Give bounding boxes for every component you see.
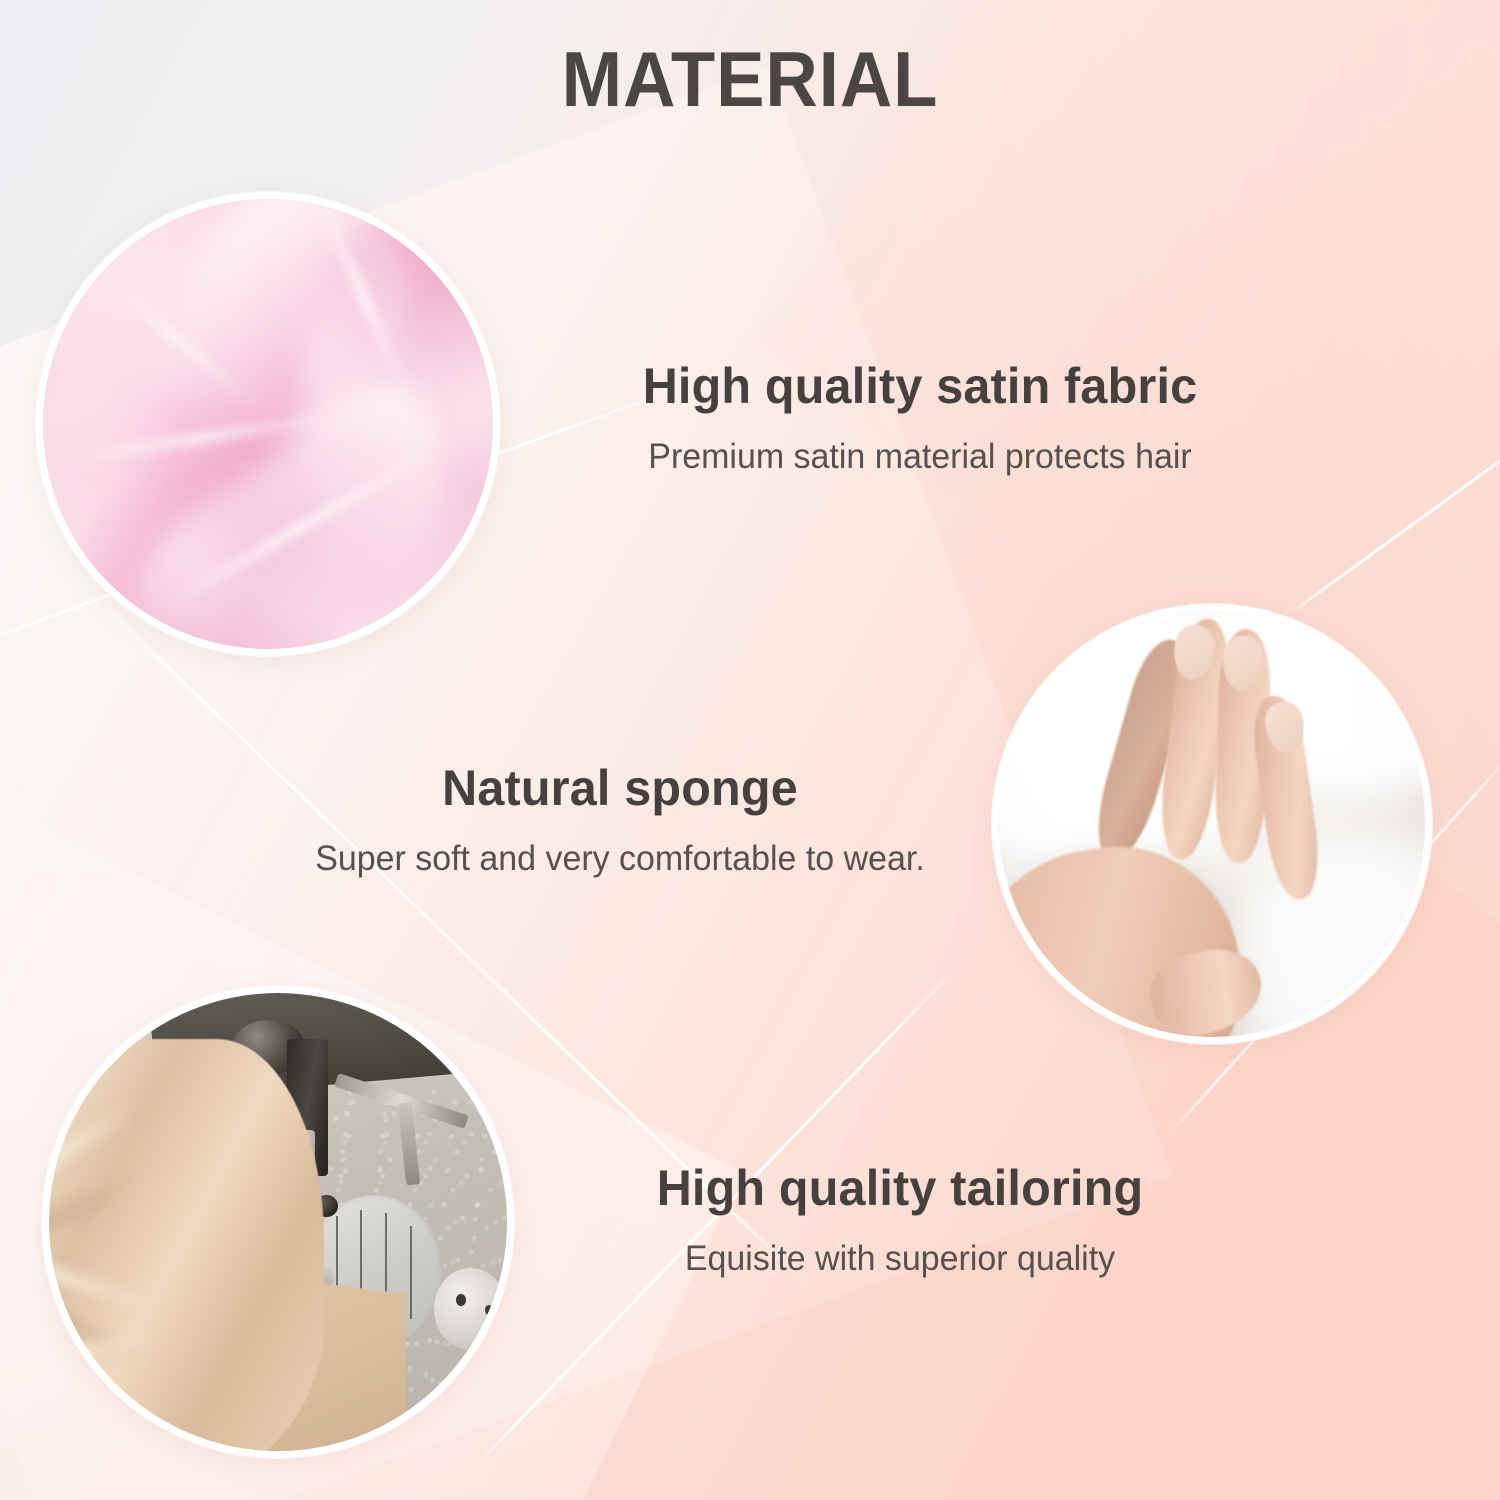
feature-sponge-title: Natural sponge	[174, 760, 1066, 816]
sewing-machine-bobbin-cover	[434, 1268, 507, 1350]
feature-tailoring-subtitle: Equisite with superior quality	[454, 1238, 1346, 1280]
fabric-shadow-1	[49, 1173, 140, 1271]
feature-block-satin: High quality satin fabric Premium satin …	[460, 358, 1380, 478]
feature-satin-subtitle: Premium satin material protects hair	[474, 436, 1366, 478]
sewing-machine-image-inner	[49, 993, 507, 1451]
material-infographic: MATERIAL	[0, 0, 1500, 1500]
satin-fabric-image-inner	[43, 199, 493, 649]
feature-sponge-subtitle: Super soft and very comfortable to wear.	[174, 838, 1066, 880]
champagne-satin-fabric	[49, 1039, 324, 1451]
feature-block-sponge: Natural sponge Super soft and very comfo…	[160, 760, 1080, 880]
seam-guide-mark-one	[410, 1226, 412, 1319]
feature-satin-title: High quality satin fabric	[474, 358, 1366, 414]
feature-tailoring-title: High quality tailoring	[454, 1160, 1346, 1216]
fabric-fold-2	[49, 1236, 157, 1313]
feature-block-tailoring: High quality tailoring Equisite with sup…	[440, 1160, 1360, 1280]
satin-fabric-image	[36, 192, 500, 656]
page-title: MATERIAL	[53, 34, 1448, 125]
